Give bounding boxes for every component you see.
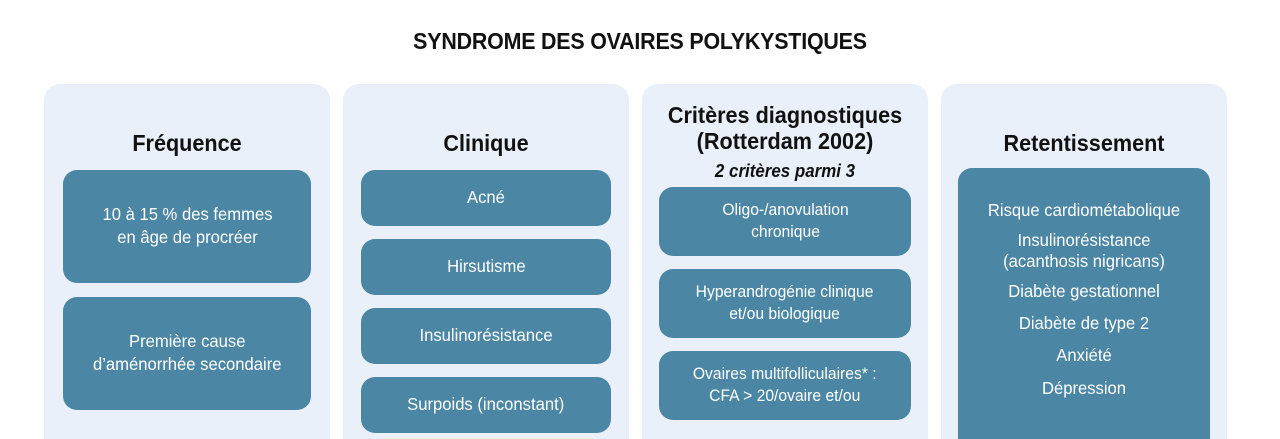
pill-stack-criteres: Oligo-/anovulation chronique Hyperandrog… <box>642 182 928 439</box>
column-card-retentissement: Retentissement Risque cardiométabolique … <box>941 84 1227 439</box>
pill-text: Insulinorésistance <box>419 324 552 347</box>
risk-item-line: (acanthosis nigricans) <box>1003 251 1165 271</box>
pill-retentissement[interactable]: Risque cardiométabolique Insulinorésista… <box>958 168 1210 439</box>
pill-frequence-1[interactable]: 10 à 15 % des femmes en âge de procréer <box>63 170 311 283</box>
column-title-criteres-line2: (Rotterdam 2002) <box>651 129 920 155</box>
pill-text: Surpoids (inconstant) <box>407 393 564 416</box>
pill-line: en âge de procréer <box>117 227 257 247</box>
pill-line: Première cause <box>129 331 245 351</box>
pill-text: Première cause d’aménorrhée secondaire <box>93 330 282 376</box>
pill-clinique-4[interactable]: Surpoids (inconstant) <box>361 377 611 433</box>
column-card-frequence: Fréquence 10 à 15 % des femmes en âge de… <box>44 84 330 439</box>
pill-text: Hyperandrogénie clinique et/ou biologiqu… <box>696 282 874 325</box>
pill-line: Ovaires multifolliculaires* : <box>693 365 877 383</box>
column-header-clinique: Clinique <box>343 84 629 157</box>
pill-line: Oligo-/anovulation <box>722 201 848 219</box>
pill-line: d’aménorrhée secondaire <box>93 354 282 374</box>
risk-item: Insulinorésistance (acanthosis nigricans… <box>964 226 1203 275</box>
page-title: SYNDROME DES OVAIRES POLYKYSTIQUES <box>45 28 1235 55</box>
pill-stack-retentissement: Risque cardiométabolique Insulinorésista… <box>941 157 1227 439</box>
risk-list: Risque cardiométabolique Insulinorésista… <box>958 194 1210 404</box>
column-header-criteres: Critères diagnostiques (Rotterdam 2002) … <box>642 84 928 182</box>
columns-container: Fréquence 10 à 15 % des femmes en âge de… <box>44 84 1236 439</box>
pill-stack-frequence: 10 à 15 % des femmes en âge de procréer … <box>44 157 330 439</box>
pill-clinique-2[interactable]: Hirsutisme <box>361 239 611 295</box>
pill-clinique-3[interactable]: Insulinorésistance <box>361 308 611 364</box>
column-header-frequence: Fréquence <box>44 84 330 157</box>
pill-line: CFA > 20/ovaire et/ou <box>709 387 860 405</box>
pill-critere-1[interactable]: Oligo-/anovulation chronique <box>659 187 911 256</box>
risk-item: Dépression <box>964 372 1203 404</box>
column-title-retentissement: Retentissement <box>950 131 1219 157</box>
pill-text: Oligo-/anovulation chronique <box>722 200 848 243</box>
risk-item-line: Insulinorésistance <box>1017 230 1150 250</box>
pill-line: Hyperandrogénie clinique <box>696 283 874 301</box>
risk-item: Risque cardiométabolique <box>964 194 1203 226</box>
pill-stack-clinique: Acné Hirsutisme Insulinorésistance Surpo… <box>343 157 629 439</box>
column-title-criteres-line1: Critères diagnostiques <box>651 103 920 129</box>
pill-text: 10 à 15 % des femmes en âge de procréer <box>102 203 272 249</box>
pill-text: Ovaires multifolliculaires* : CFA > 20/o… <box>693 364 877 407</box>
risk-item: Diabète de type 2 <box>964 307 1203 339</box>
risk-item: Anxiété <box>964 339 1203 371</box>
pill-text: Acné <box>467 186 505 209</box>
pill-critere-2[interactable]: Hyperandrogénie clinique et/ou biologiqu… <box>659 269 911 338</box>
pill-line: 10 à 15 % des femmes <box>102 204 272 224</box>
pill-line: chronique <box>751 223 820 241</box>
infographic-root: SYNDROME DES OVAIRES POLYKYSTIQUES Fréqu… <box>0 0 1280 439</box>
risk-item: Diabète gestationnel <box>964 275 1203 307</box>
column-card-criteres-diagnostiques: Critères diagnostiques (Rotterdam 2002) … <box>642 84 928 439</box>
pill-line: et/ou biologique <box>730 305 841 323</box>
pill-critere-3[interactable]: Ovaires multifolliculaires* : CFA > 20/o… <box>659 351 911 420</box>
column-title-clinique: Clinique <box>352 131 621 157</box>
pill-clinique-1[interactable]: Acné <box>361 170 611 226</box>
pill-text: Hirsutisme <box>447 255 526 278</box>
column-header-retentissement: Retentissement <box>941 84 1227 157</box>
column-title-frequence: Fréquence <box>53 131 322 157</box>
pill-frequence-2[interactable]: Première cause d’aménorrhée secondaire <box>63 297 311 410</box>
column-card-clinique: Clinique Acné Hirsutisme Insulinorésista… <box>343 84 629 439</box>
column-subtitle-criteres: 2 critères parmi 3 <box>651 161 920 183</box>
